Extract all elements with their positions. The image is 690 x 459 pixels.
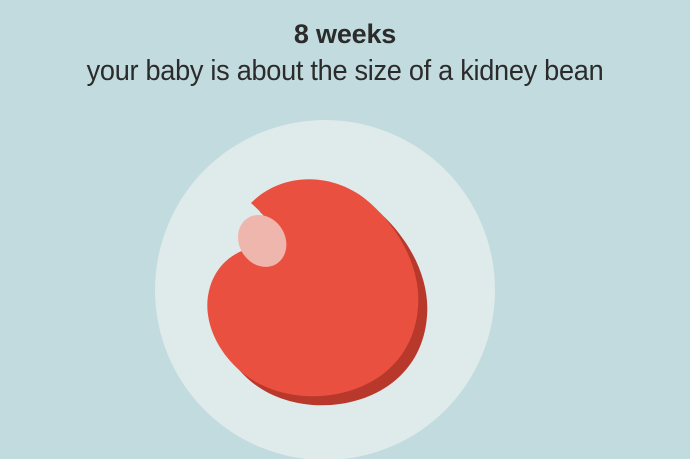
page-subtitle: your baby is about the size of a kidney … (22, 51, 667, 88)
size-comparison-card: 8 weeks your baby is about the size of a… (0, 0, 690, 459)
card-header: 8 weeks your baby is about the size of a… (0, 0, 690, 88)
page-title: 8 weeks (0, 0, 690, 51)
illustration-area (155, 120, 495, 459)
